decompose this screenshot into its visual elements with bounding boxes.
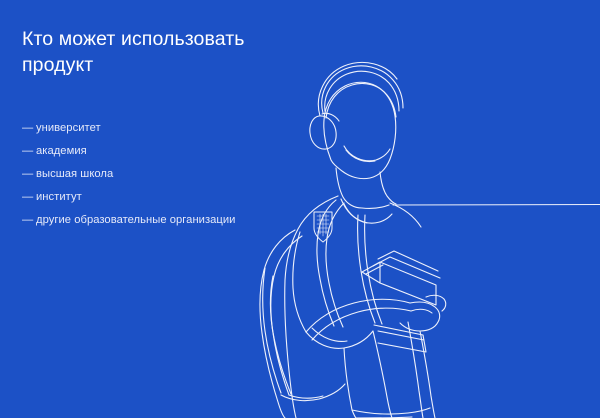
list-item-label: высшая школа [36,168,113,180]
list-item: — университет [22,121,272,135]
bullet-dash-icon: — [22,213,33,227]
horizon-line [393,205,600,206]
list-item-label: другие образовательные организации [36,214,235,226]
list-item: — академия [22,144,272,158]
bullet-dash-icon: — [22,167,33,181]
audience-list: — университет — академия — высшая школа … [22,121,272,227]
bullet-dash-icon: — [22,190,33,204]
shield-badge-icon [314,212,332,242]
list-item-label: академия [36,145,87,157]
bullet-dash-icon: — [22,144,33,158]
page-title: Кто может использовать продукт [22,26,312,78]
bullet-dash-icon: — [22,121,33,135]
list-item-label: университет [36,122,101,134]
list-item: — другие образовательные организации [22,213,272,227]
slide-content: Кто может использовать продукт — универс… [22,26,312,78]
list-item: — институт [22,190,272,204]
list-item-label: институт [36,191,82,203]
presentation-slide: Кто может использовать продукт — универс… [0,0,600,418]
list-item: — высшая школа [22,167,272,181]
